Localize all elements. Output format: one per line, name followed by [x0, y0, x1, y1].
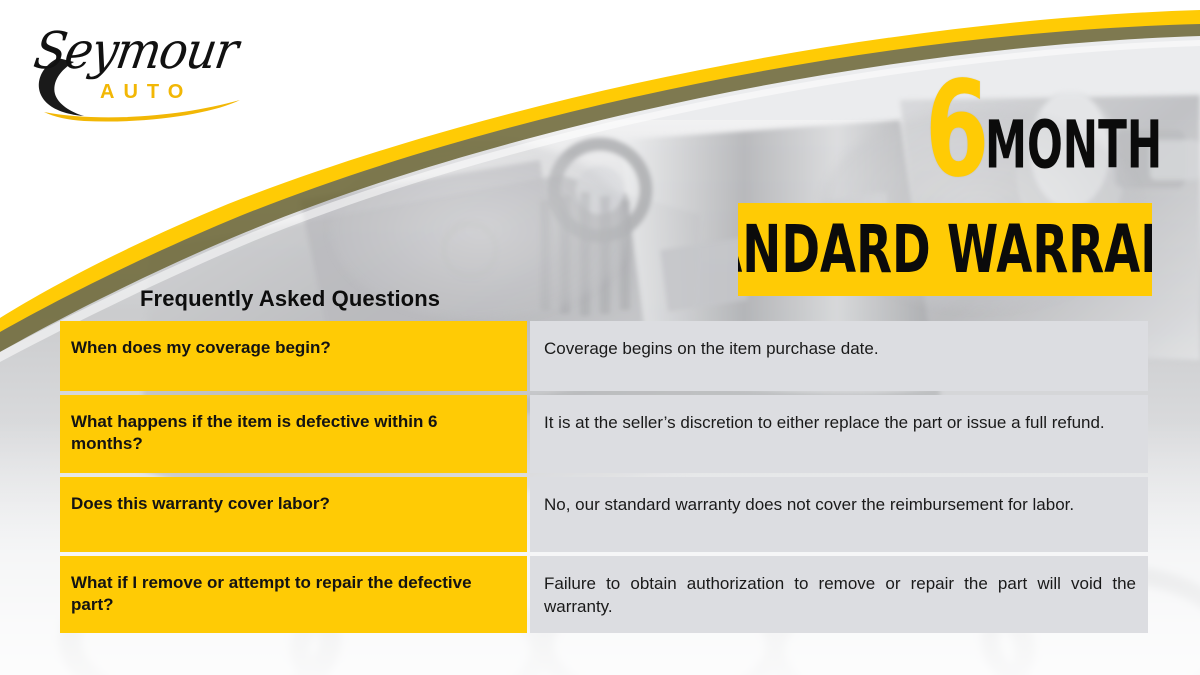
standard-warranty-banner-text: STANDARD WARRANTY — [738, 217, 1152, 283]
standard-warranty-banner: STANDARD WARRANTY — [738, 203, 1152, 296]
faq-table: When does my coverage begin? Coverage be… — [60, 321, 1148, 633]
table-row: What if I remove or attempt to repair th… — [60, 556, 1148, 633]
warranty-duration-number: 6 — [925, 78, 988, 184]
faq-question: What happens if the item is defective wi… — [60, 395, 527, 473]
faq-answer: No, our standard warranty does not cover… — [530, 477, 1148, 552]
table-row: Does this warranty cover labor? No, our … — [60, 477, 1148, 552]
warranty-slide: Seymour AUTO 6 MONTH STANDARD WARRANTY F… — [0, 0, 1200, 675]
faq-answer: Failure to obtain authorization to remov… — [530, 556, 1148, 633]
faq-question: Does this warranty cover labor? — [60, 477, 527, 552]
warranty-duration-unit: MONTH — [985, 112, 1162, 178]
faq-question: When does my coverage begin? — [60, 321, 527, 391]
faq-section-heading: Frequently Asked Questions — [140, 286, 440, 312]
seymour-auto-logo[interactable]: Seymour AUTO — [26, 24, 286, 128]
table-row: What happens if the item is defective wi… — [60, 395, 1148, 473]
faq-question: What if I remove or attempt to repair th… — [60, 556, 527, 633]
faq-answer: It is at the seller’s discretion to eith… — [530, 395, 1148, 473]
faq-answer: Coverage begins on the item purchase dat… — [530, 321, 1148, 391]
logo-subtitle: AUTO — [100, 81, 192, 104]
logo-wordmark: Seymour — [30, 22, 241, 81]
warranty-duration-headline: 6 MONTH — [925, 78, 1200, 184]
table-row: When does my coverage begin? Coverage be… — [60, 321, 1148, 391]
